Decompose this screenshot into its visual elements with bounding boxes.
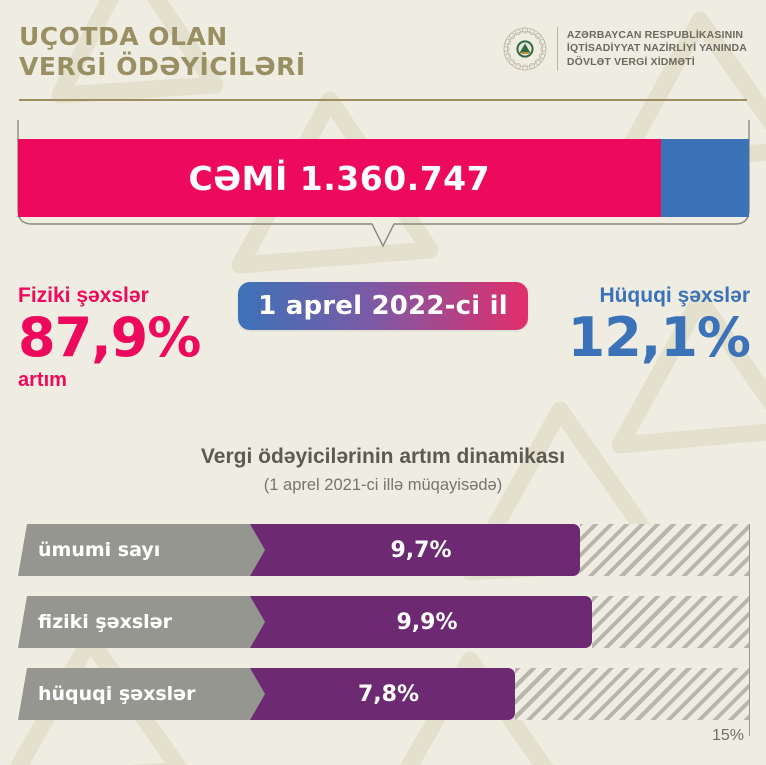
header-divider <box>19 99 747 101</box>
bar-notch-icon <box>250 596 265 648</box>
total-taxpayers-bar: CƏMİ 1.360.747 <box>18 139 749 217</box>
organization-name: AZƏRBAYCAN RESPUBLİKASININ İQTİSADİYYAT … <box>567 29 747 70</box>
stat-legal-entities: Hüquqi şəxslər 12,1% <box>568 283 750 367</box>
bar-value-text: 9,9% <box>396 610 457 635</box>
bar-label-text: fiziki şəxslər <box>38 611 172 633</box>
page-title-line-2: VERGİ ÖDƏYİCİLƏRİ <box>19 52 306 82</box>
table-row: hüquqi şəxslər 7,8% <box>0 668 766 720</box>
stat-individuals-value: 87,9% <box>18 309 200 367</box>
dynamics-heading: Vergi ödəyicilərinin artım dinamikası (1… <box>0 444 766 496</box>
bar-label-text: hüquqi şəxslər <box>38 683 195 705</box>
axis-max-label: 15% <box>712 727 744 745</box>
bar-label-fiziki-sexsler: fiziki şəxslər <box>18 596 268 648</box>
bar-fill-fiziki-sexsler: 9,9% <box>250 596 592 648</box>
table-row: ümumi sayı 9,7% <box>0 524 766 576</box>
org-line-1: AZƏRBAYCAN RESPUBLİKASININ <box>567 29 747 43</box>
bar-track-hatch <box>580 524 749 576</box>
state-emblem-icon <box>502 26 548 72</box>
bar-fill-umumi-sayi: 9,7% <box>250 524 580 576</box>
page-title-line-1: UÇOTDA OLAN <box>19 22 306 52</box>
dynamics-subtitle: (1 aprel 2021-ci illə müqayisədə) <box>0 474 766 496</box>
bar-fill-huquqi-sexsler: 7,8% <box>250 668 515 720</box>
bar-label-huquqi-sexsler: hüquqi şəxslər <box>18 668 268 720</box>
bar-value-text: 9,7% <box>390 538 451 563</box>
date-badge: 1 aprel 2022-ci il <box>238 282 528 330</box>
stat-individuals: Fiziki şəxslər 87,9% artım <box>18 283 200 393</box>
stat-individuals-sub: artım <box>18 367 200 393</box>
bar-label-umumi-sayi: ümumi sayı <box>18 524 268 576</box>
total-bar-segment-individuals: CƏMİ 1.360.747 <box>18 139 661 217</box>
header: UÇOTDA OLAN VERGİ ÖDƏYİCİLƏRİ <box>0 0 766 110</box>
bar-track-hatch <box>592 596 749 648</box>
dynamics-bar-chart: ümumi sayı 9,7% fiziki şəxslər 9,9% hüqu… <box>0 524 766 724</box>
bar-value-text: 7,8% <box>358 682 419 707</box>
infographic-page: UÇOTDA OLAN VERGİ ÖDƏYİCİLƏRİ <box>0 0 766 765</box>
organization-logo: AZƏRBAYCAN RESPUBLİKASININ İQTİSADİYYAT … <box>502 26 747 72</box>
bar-notch-icon <box>250 524 265 576</box>
logo-divider <box>557 27 558 71</box>
total-bar-segment-legal-entities <box>661 139 749 217</box>
date-badge-text: 1 aprel 2022-ci il <box>258 291 508 321</box>
table-row: fiziki şəxslər 9,9% <box>0 596 766 648</box>
axis-line <box>749 524 750 736</box>
org-line-2: İQTİSADİYYAT NAZİRLİYİ YANINDA <box>567 42 747 56</box>
bar-notch-icon <box>250 668 265 720</box>
stat-legal-entities-value: 12,1% <box>568 309 750 367</box>
bar-label-text: ümumi sayı <box>38 539 160 561</box>
org-line-3: DÖVLƏT VERGİ XİDMƏTİ <box>567 56 747 70</box>
dynamics-title: Vergi ödəyicilərinin artım dinamikası <box>0 444 766 470</box>
total-bar-label: CƏMİ 1.360.747 <box>188 159 490 198</box>
page-title: UÇOTDA OLAN VERGİ ÖDƏYİCİLƏRİ <box>19 22 306 82</box>
bar-track-hatch <box>515 668 749 720</box>
